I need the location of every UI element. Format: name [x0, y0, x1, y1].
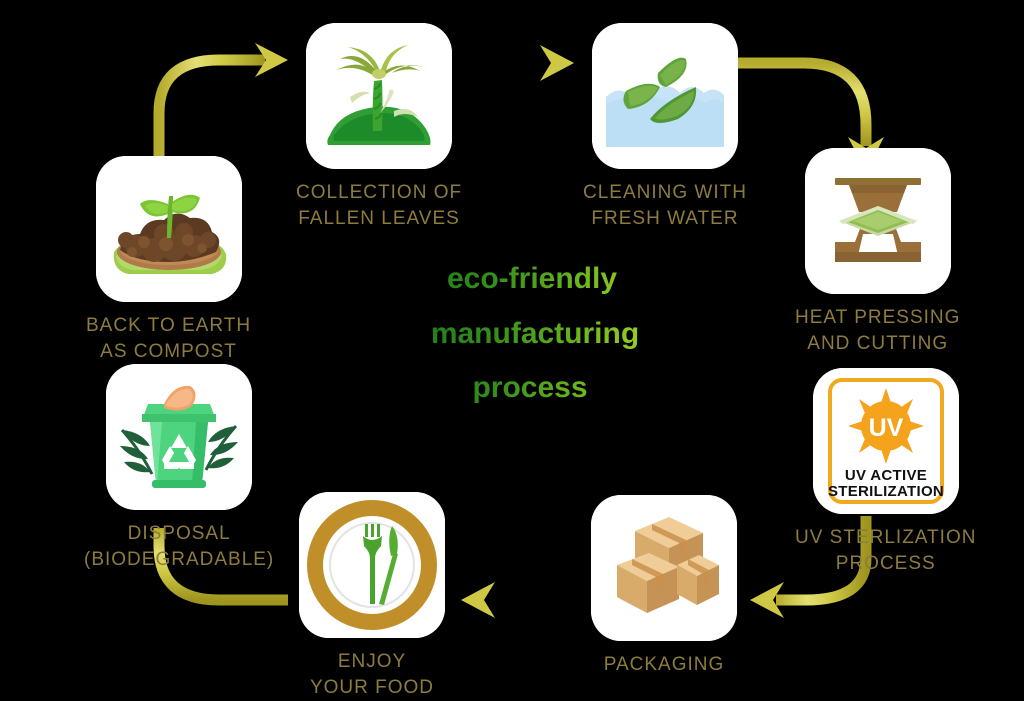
step-cleaning[interactable]: CLEANING WITH FRESH WATER — [583, 23, 747, 232]
step-collection[interactable]: COLLECTION OF FALLEN LEAVES — [296, 23, 462, 232]
center-title-line-1: eco-friendly — [410, 252, 660, 307]
step-label-enjoy-food: ENJOY YOUR FOOD — [310, 649, 434, 701]
cardboard-boxes-icon — [591, 495, 737, 641]
step-heat-pressing[interactable]: HEAT PRESSING AND CUTTING — [795, 148, 960, 357]
step-packaging[interactable]: PACKAGING — [591, 495, 737, 678]
step-label-disposal: DISPOSAL (BIODEGRADABLE) — [84, 521, 274, 573]
step-label-packaging: PACKAGING — [604, 652, 725, 678]
step-label-cleaning: CLEANING WITH FRESH WATER — [583, 180, 747, 232]
arrow-packaging-to-enjoy — [461, 582, 581, 618]
step-enjoy-food[interactable]: ENJOY YOUR FOOD — [299, 492, 445, 701]
step-label-uv-sterilization: UV STERLIZATION PROCESS — [795, 525, 976, 577]
step-label-collection: COLLECTION OF FALLEN LEAVES — [296, 180, 462, 232]
step-disposal[interactable]: DISPOSAL (BIODEGRADABLE) — [84, 364, 274, 573]
step-uv-sterilization[interactable]: UV UV ACTIVE STERILIZATION UV STERLIZATI… — [795, 368, 976, 577]
center-title: eco-friendly manufacturing process — [410, 252, 660, 416]
center-title-line-3: process — [410, 361, 660, 416]
arrow-collection-to-cleaning — [450, 45, 574, 81]
palm-tree-icon — [306, 23, 452, 169]
step-compost[interactable]: BACK TO EARTH AS COMPOST — [86, 156, 251, 365]
svg-text:UV ACTIVE: UV ACTIVE — [845, 467, 927, 484]
seedling-compost-icon — [96, 156, 242, 302]
diagram-canvas: COLLECTION OF FALLEN LEAVES CLEANING WIT… — [0, 0, 1024, 695]
step-label-compost: BACK TO EARTH AS COMPOST — [86, 313, 251, 365]
step-label-heat-pressing: HEAT PRESSING AND CUTTING — [795, 305, 960, 357]
svg-text:UV: UV — [868, 414, 903, 442]
leaves-in-water-icon — [592, 23, 738, 169]
plate-cutlery-icon — [299, 492, 445, 638]
svg-text:STERILIZATION: STERILIZATION — [828, 483, 944, 500]
heat-press-icon — [805, 148, 951, 294]
center-title-line-2: manufacturing — [410, 307, 660, 362]
arrow-compost-to-collection — [159, 43, 288, 163]
recycle-bin-icon — [106, 364, 252, 510]
uv-sterilization-badge-icon: UV UV ACTIVE STERILIZATION — [813, 368, 959, 514]
